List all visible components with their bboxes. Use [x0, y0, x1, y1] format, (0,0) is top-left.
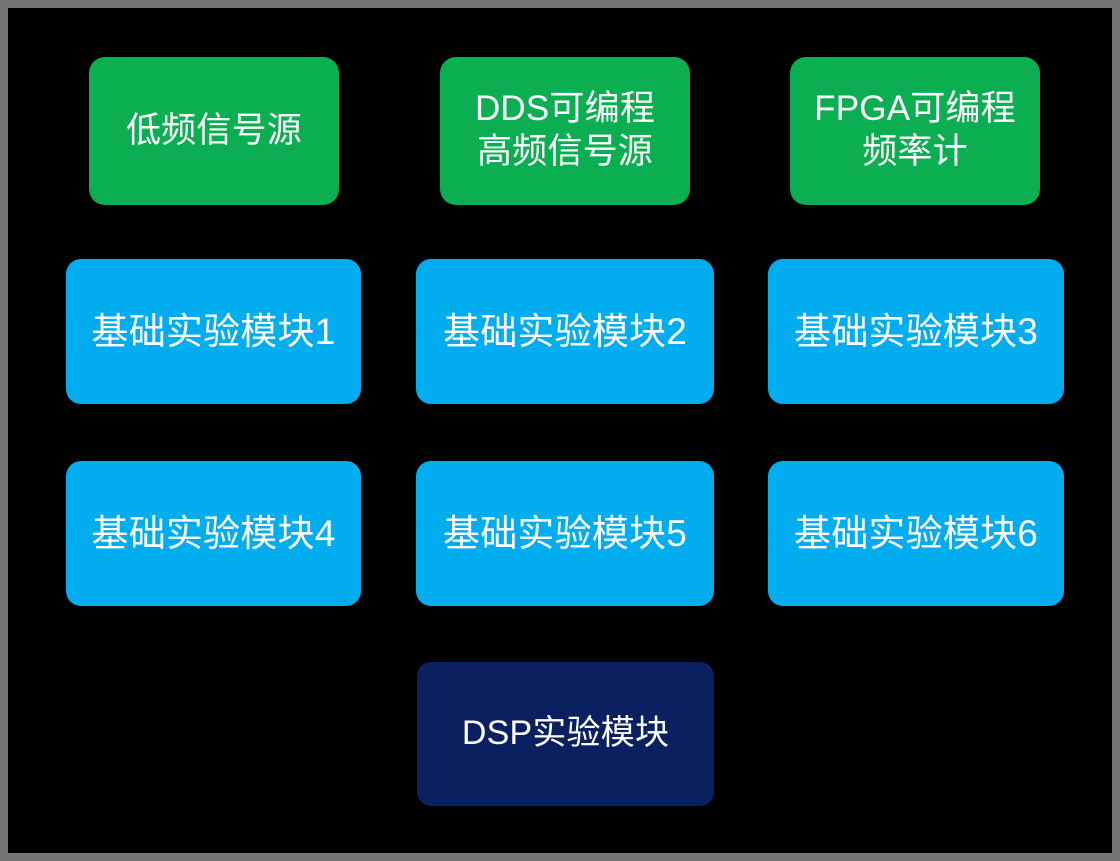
node-low-frequency-signal-source[interactable]: 低频信号源 — [89, 57, 339, 205]
node-basic-experiment-module-1[interactable]: 基础实验模块1 — [66, 259, 361, 404]
diagram-canvas: 低频信号源 DDS可编程 高频信号源 FPGA可编程 频率计 基础实验模块1 基… — [0, 0, 1120, 861]
node-basic-experiment-module-3[interactable]: 基础实验模块3 — [768, 259, 1064, 404]
node-basic-experiment-module-2[interactable]: 基础实验模块2 — [416, 259, 714, 404]
node-basic-experiment-module-4[interactable]: 基础实验模块4 — [66, 461, 361, 606]
node-fpga-programmable-frequency-counter[interactable]: FPGA可编程 频率计 — [790, 57, 1040, 205]
diagram-stage: 低频信号源 DDS可编程 高频信号源 FPGA可编程 频率计 基础实验模块1 基… — [8, 8, 1112, 853]
node-dds-programmable-high-frequency-signal-source[interactable]: DDS可编程 高频信号源 — [440, 57, 690, 205]
node-dsp-experiment-module[interactable]: DSP实验模块 — [417, 662, 714, 806]
node-basic-experiment-module-6[interactable]: 基础实验模块6 — [768, 461, 1064, 606]
node-basic-experiment-module-5[interactable]: 基础实验模块5 — [416, 461, 714, 606]
